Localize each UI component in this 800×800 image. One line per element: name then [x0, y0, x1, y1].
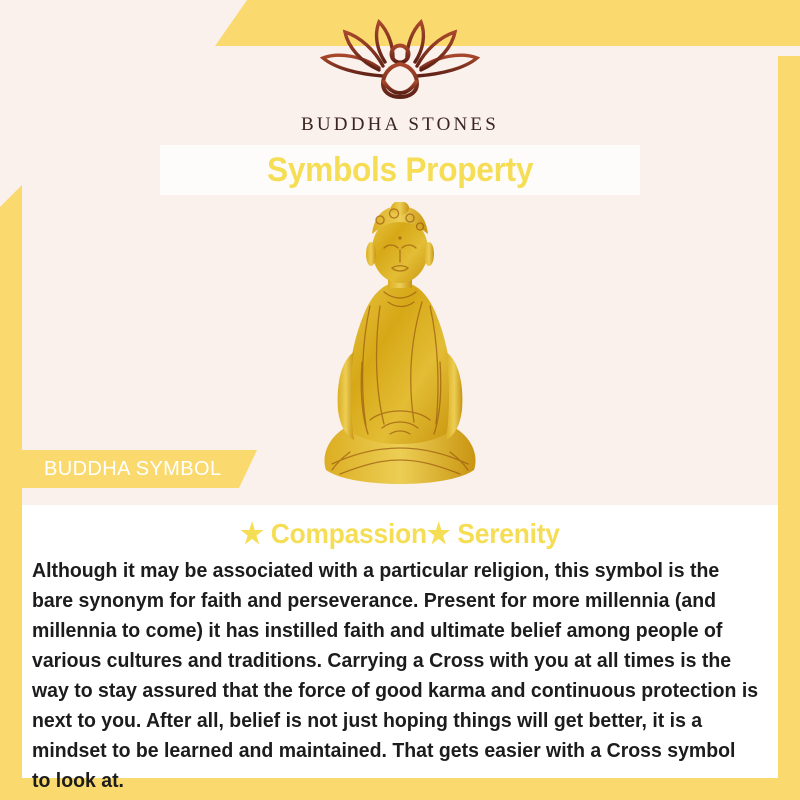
- symbol-category-tag: BUDDHA SYMBOL: [22, 450, 257, 488]
- content-body: Although it may be associated with a par…: [32, 556, 759, 796]
- content-headline: ★ Compassion★ Serenity: [54, 517, 746, 550]
- title-banner: Symbols Property: [160, 145, 640, 195]
- brand-name: BUDDHA STONES: [301, 114, 499, 136]
- promo-banner-page: BUDDHA STONES Symbols Property: [0, 0, 800, 800]
- symbol-category-label: BUDDHA SYMBOL: [44, 458, 221, 481]
- content-panel: ★ Compassion★ Serenity Although it may b…: [22, 505, 778, 778]
- lotus-meditation-icon: [305, 18, 495, 110]
- golden-seated-buddha-icon: [310, 202, 490, 500]
- brand-logo: BUDDHA STONES: [0, 18, 800, 136]
- page-title: Symbols Property: [267, 151, 533, 190]
